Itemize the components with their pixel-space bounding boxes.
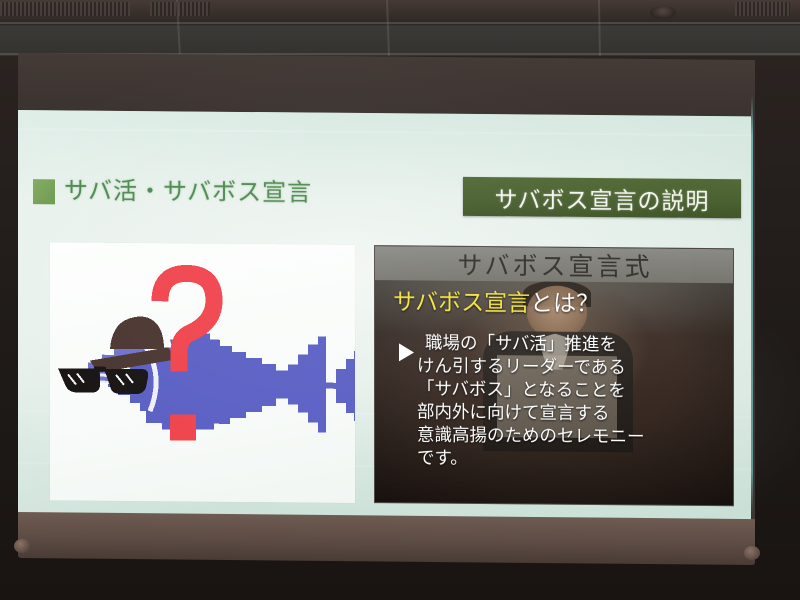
section-header-label: サバボス宣言の説明 [494, 180, 709, 216]
fish-svg [50, 242, 355, 503]
roller-cap-right [744, 546, 760, 560]
ceremony-photo-panel: サバボス宣言式 サバボス宣言とは？ 職場の「サバ活」推進を けん引するリーダーで… [374, 245, 734, 506]
body-line: けん引するリーダーである [417, 355, 725, 381]
bullet-triangle-icon [399, 343, 414, 361]
ceremony-banner: サバボス宣言式 [375, 246, 734, 283]
projector-screen: サバ活・サバボス宣言 サバボス宣言の説明 [18, 53, 755, 556]
body-line: 意識高揚のためのセレモニー [417, 424, 725, 450]
title-marker-square [33, 179, 55, 204]
projector-scanline [18, 128, 751, 136]
presentation-slide: サバ活・サバボス宣言 サバボス宣言の説明 [18, 110, 751, 520]
ceiling-grid-line [0, 22, 800, 24]
screen-right-edge-highlight [751, 95, 753, 513]
roller-cap-left [14, 539, 30, 553]
panel-heading-tail: とは？ [530, 290, 599, 317]
screen-top-band [18, 53, 755, 118]
panel-heading-highlight: サバボス宣言 [393, 289, 530, 316]
body-line: です。 [417, 447, 725, 473]
ceiling-vent-right [735, 2, 790, 16]
pixel-mackerel-icon [50, 242, 355, 503]
meeting-room-scene: サバ活・サバボス宣言 サバボス宣言の説明 [0, 0, 800, 600]
section-header-tab: サバボス宣言の説明 [463, 177, 741, 218]
ceiling-vent-mid [150, 2, 210, 16]
ceiling-sprinkler [650, 6, 676, 19]
ceiling [0, 0, 800, 56]
body-line: 部内外に向けて宣言する [417, 401, 725, 427]
body-line: 「サバボス」となることを [417, 378, 725, 404]
ceiling-vent-left [0, 2, 130, 16]
slide-title: サバ活・サバボス宣言 [64, 170, 312, 207]
screen-roller-bar [18, 512, 755, 565]
panel-heading: サバボス宣言とは？ [393, 282, 599, 318]
panel-body-text: 職場の「サバ活」推進を けん引するリーダーである 「サバボス」となることを 部内… [425, 333, 725, 474]
ceremony-banner-text: サバボス宣言式 [457, 246, 652, 284]
fish-illustration-box [50, 242, 355, 503]
body-line: 職場の「サバ活」推進を [425, 333, 725, 359]
